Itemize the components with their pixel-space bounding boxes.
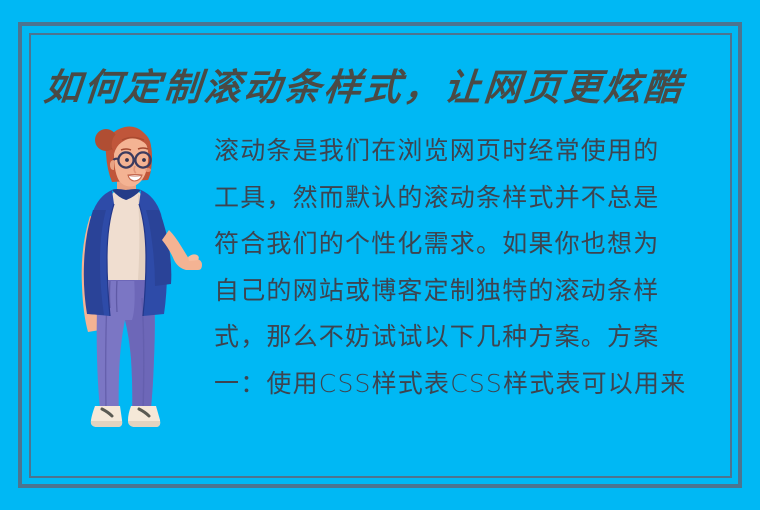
character-illustration: [62, 118, 202, 428]
article-body: 滚动条是我们在浏览网页时经常使用的 工具，然而默认的滚动条样式并不总是 符合我们…: [214, 128, 726, 407]
trouser-pleat-b: [117, 280, 118, 312]
eye-left: [125, 158, 129, 162]
poster-canvas: 如何定制滚动条样式，让网页更炫酷: [0, 0, 760, 510]
right-hand-thumb: [188, 254, 199, 261]
mouth-line: [129, 176, 142, 177]
body-line: 滚动条是我们在浏览网页时经常使用的: [214, 128, 726, 175]
body-line: 式，那么不妨试试以下几种方案。方案: [214, 314, 726, 361]
eye-right: [142, 158, 146, 162]
character-illustration-svg: [62, 118, 202, 428]
page-title: 如何定制滚动条样式，让网页更炫酷: [41, 58, 726, 116]
shoe-left-sole: [91, 421, 122, 427]
body-line: 符合我们的个性化需求。如果你也想为: [214, 221, 726, 268]
body-line: 一：使用CSS样式表CSS样式表可以用来: [214, 361, 726, 408]
cheek-blush: [145, 168, 151, 172]
shoe-right-sole: [128, 421, 160, 427]
body-line: 工具，然而默认的滚动条样式并不总是: [214, 175, 726, 222]
body-line: 自己的网站或博客定制独特的滚动条样: [214, 268, 726, 315]
trouser-pleat-a: [110, 280, 111, 308]
